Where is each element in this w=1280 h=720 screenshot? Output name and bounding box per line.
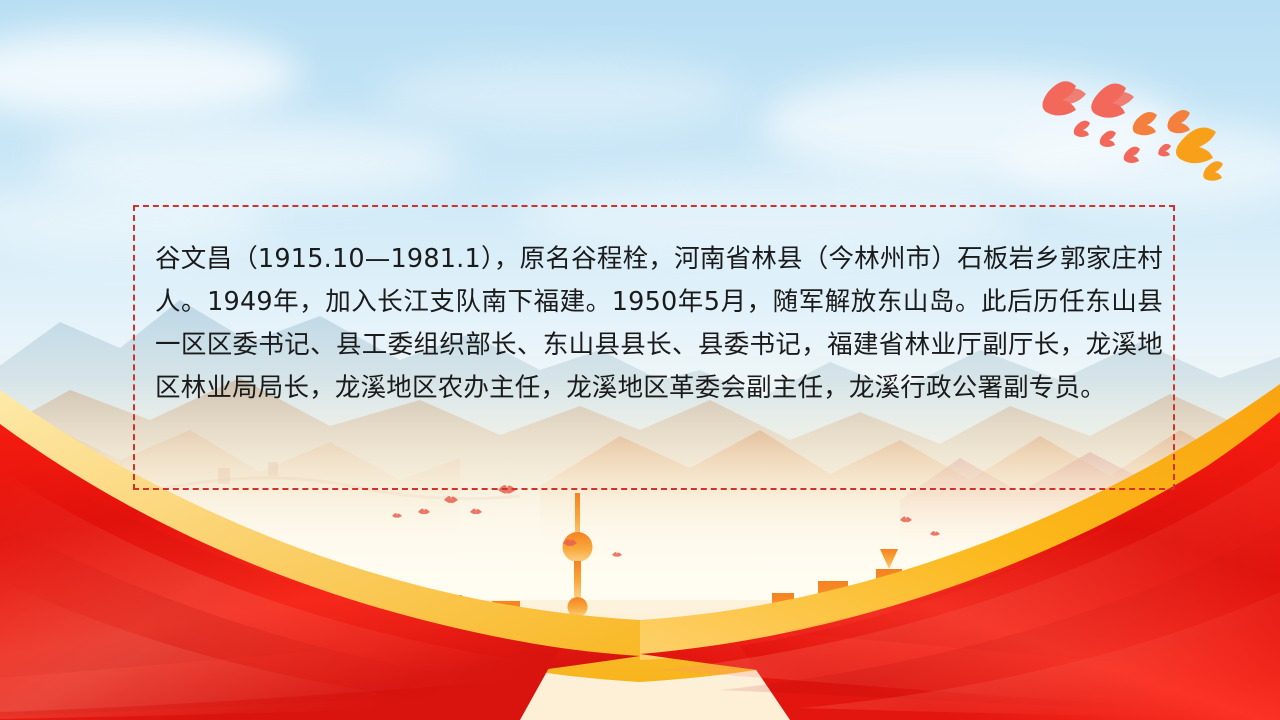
biography-paragraph: 谷文昌（1915.10—1981.1），原名谷程栓，河南省林县（今林州市）石板岩… — [155, 238, 1163, 410]
slide-canvas: 谷文昌（1915.10—1981.1），原名谷程栓，河南省林县（今林州市）石板岩… — [0, 0, 1280, 720]
cloud-icon — [380, 60, 740, 130]
city-skyline-icon — [0, 485, 1280, 665]
